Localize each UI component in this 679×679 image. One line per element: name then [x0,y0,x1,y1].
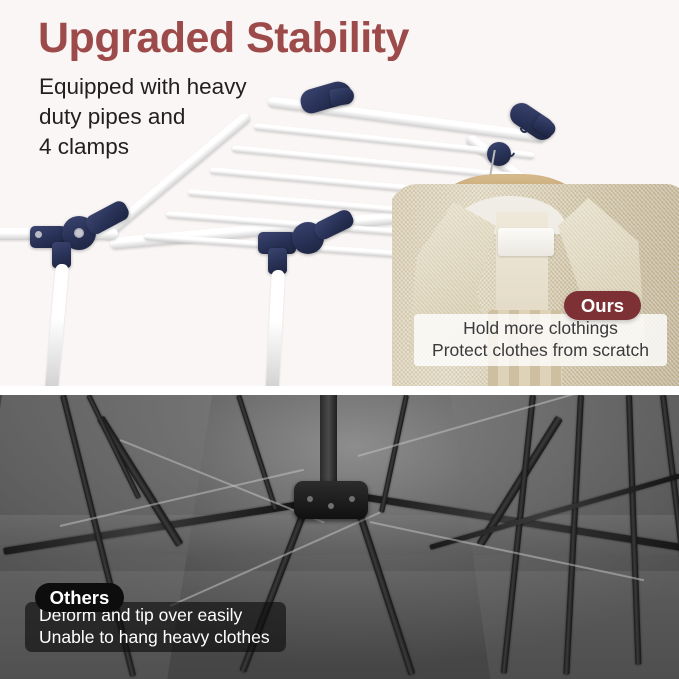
clamp-right-arm [312,207,356,242]
rack-rod [379,395,409,513]
rack-centre-hub-joint [294,481,368,519]
hub-bolt-icon [307,496,313,502]
others-badge-label: Others [35,587,124,609]
panel-divider [0,386,679,395]
hub-bolt-icon [349,496,355,502]
rack-rod [236,395,278,510]
ours-caption-line-2: Protect clothes from scratch [414,340,667,361]
rack-leg-left [45,263,69,386]
comparison-infographic: Upgraded Stability Equipped with heavy d… [0,0,679,679]
ours-caption-box: Hold more clothings Protect clothes from… [414,314,667,366]
top-panel-ours: Upgraded Stability Equipped with heavy d… [0,0,679,386]
bottom-panel-others: Deform and tip over easily Unable to han… [0,395,679,679]
clamp-left-screw-icon [74,228,84,238]
hub-bolt-icon [328,503,334,509]
clamp-top-endcap-tip [329,86,355,106]
others-caption-line-2: Unable to hang heavy clothes [39,627,270,648]
page-title: Upgraded Stability [38,16,409,61]
ours-badge: Ours [564,291,641,320]
rack-leg-right [266,270,285,386]
rack-centre-post [320,395,337,491]
blazer-label-tag [498,228,554,256]
page-subtitle: Equipped with heavy duty pipes and 4 cla… [39,72,247,162]
ours-badge-label: Ours [564,295,641,317]
others-badge: Others [35,583,124,612]
clamp-left-screw-small-icon [35,231,42,238]
ours-caption-line-1: Hold more clothings [414,318,667,339]
